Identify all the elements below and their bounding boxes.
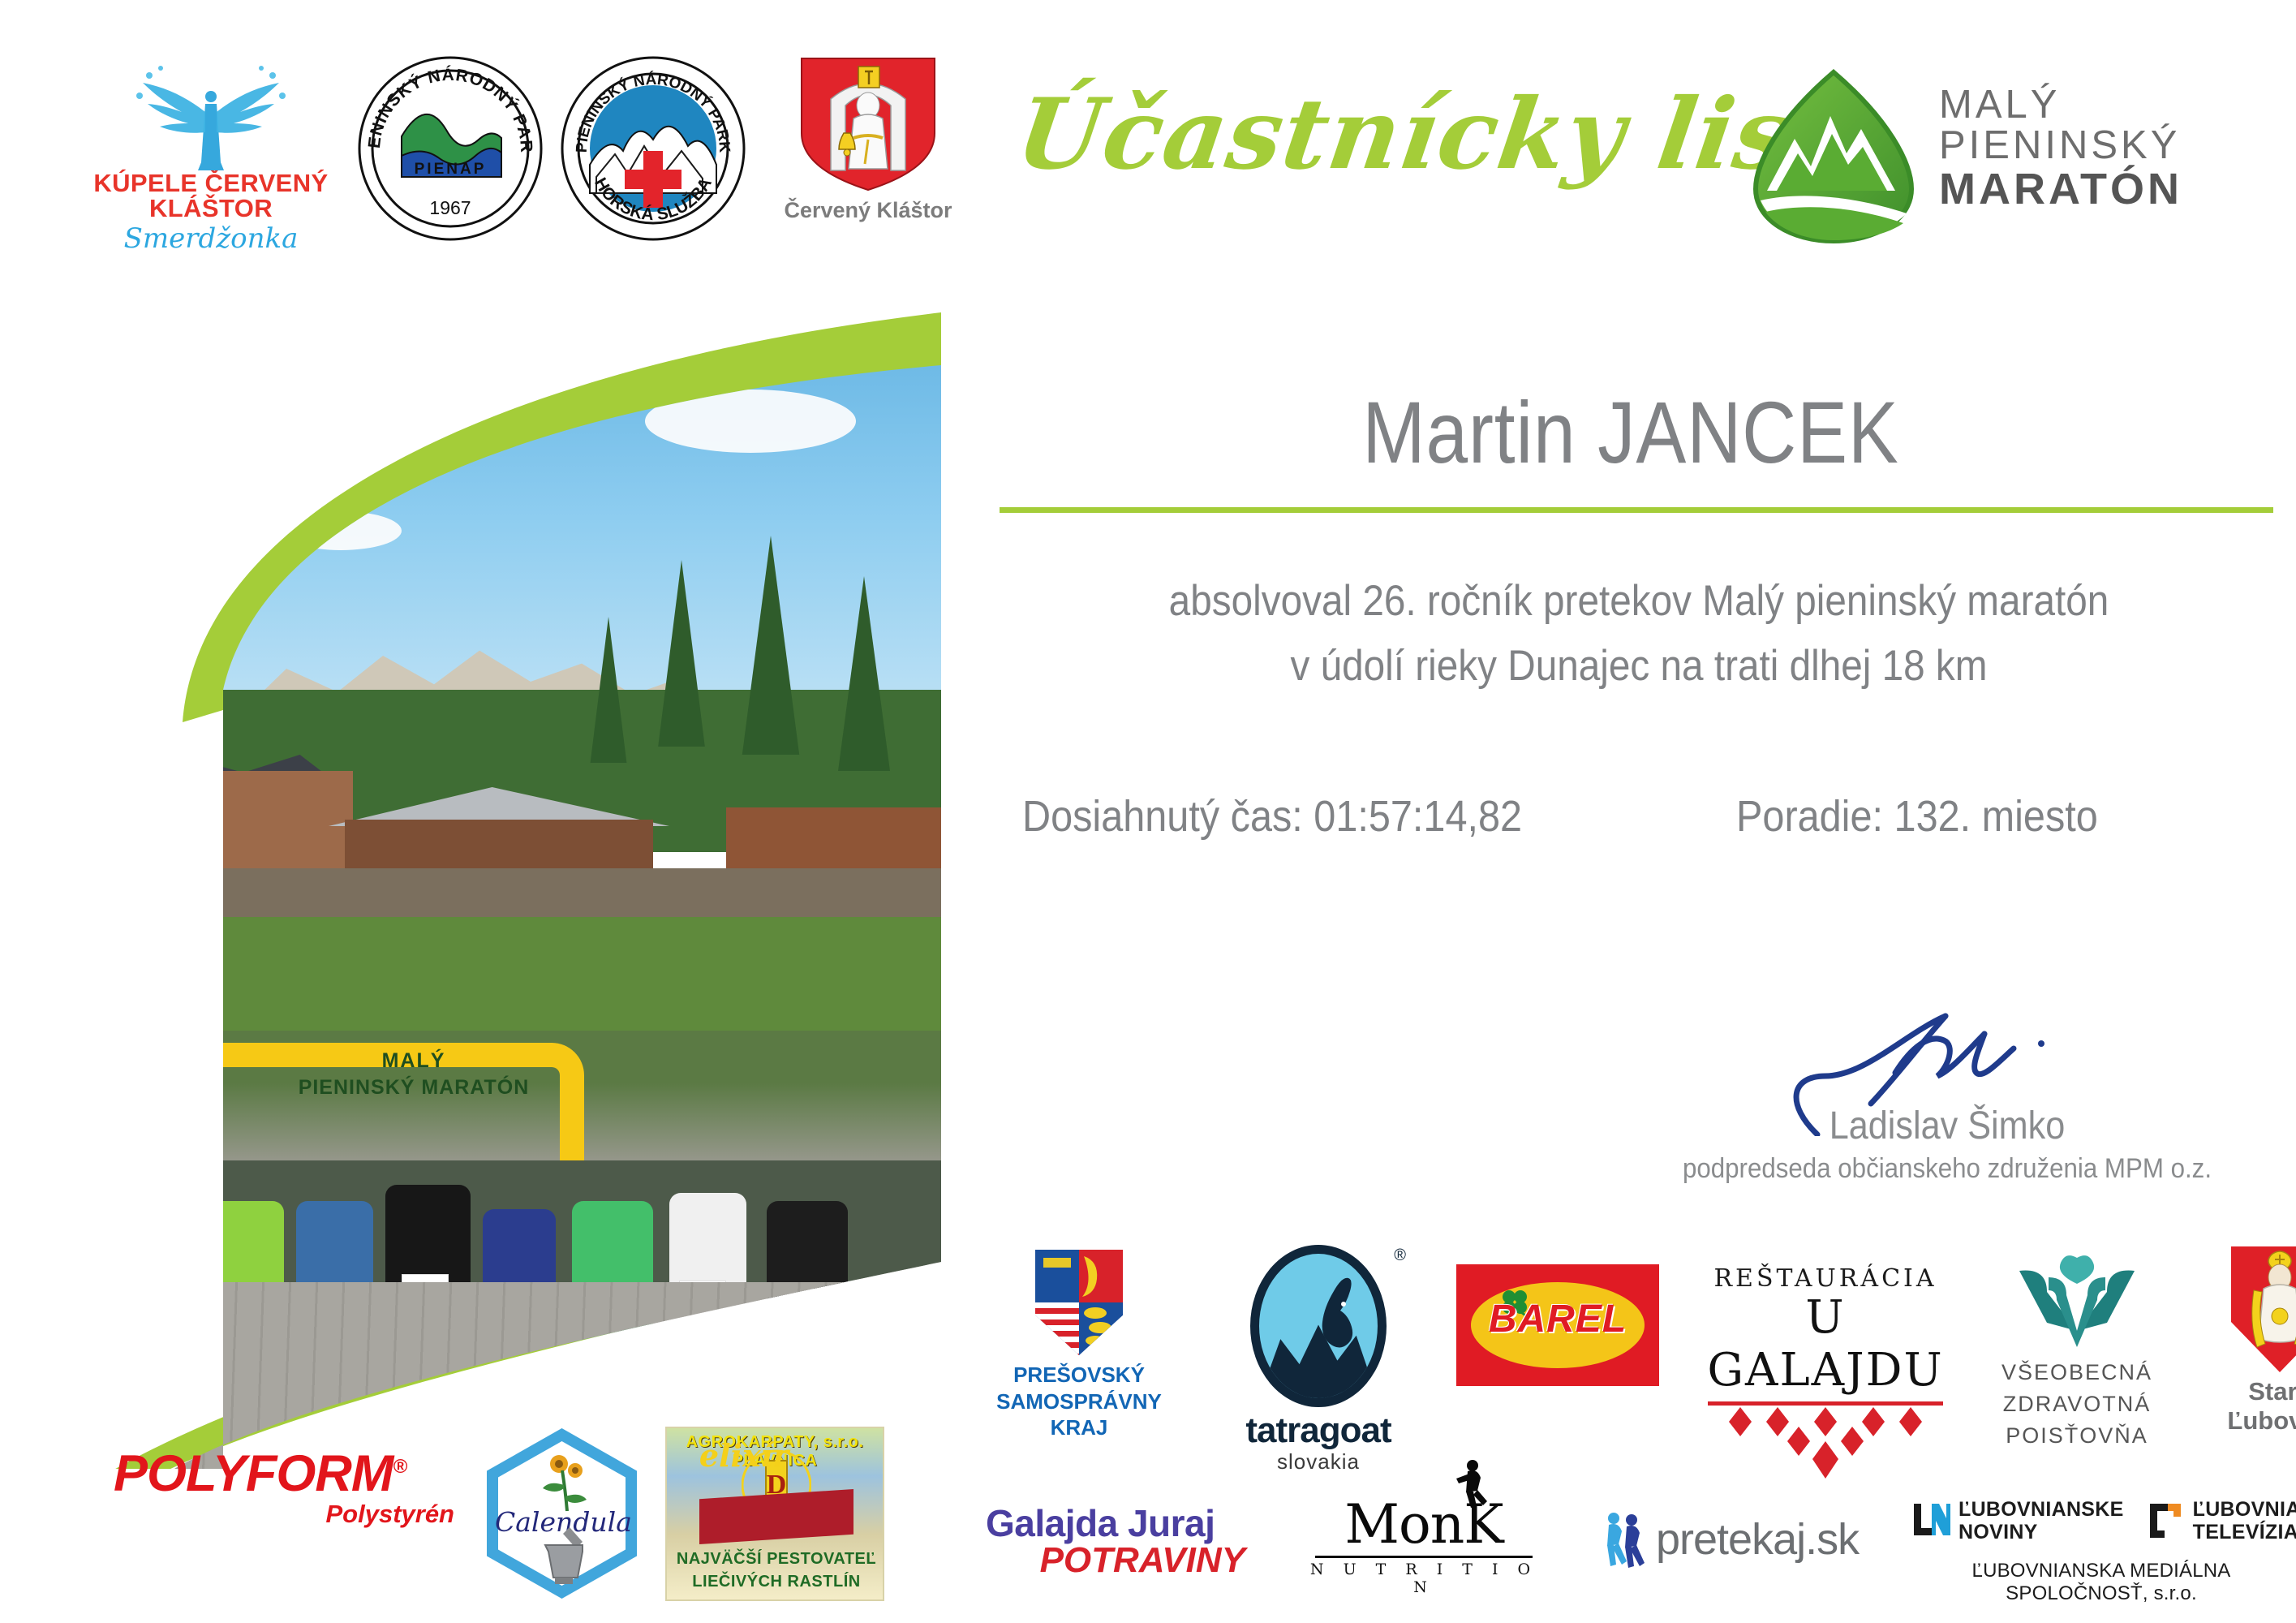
sponsor-group-row1: PREŠOVSKÝ SAMOSPRÁVNY KRAJ ® tatragoat s… xyxy=(986,1250,2284,1453)
mortar-pestle-icon xyxy=(537,1524,591,1586)
accent-divider xyxy=(1000,507,2273,513)
ln-monogram-icon xyxy=(1911,1500,1951,1541)
running-figures-icon xyxy=(1602,1511,1649,1571)
sponsor-name-barel: BAREL xyxy=(1456,1297,1659,1341)
sponsor-subtitle-polystyren: Polystyrén xyxy=(114,1500,454,1529)
sponsor-name-polyform: POLYFORM® xyxy=(114,1444,454,1503)
sponsor-name-galajda-juraj: Galajda Juraj xyxy=(986,1501,1245,1545)
sponsor-subtitle-nutrition: N U T R I T I O N xyxy=(1302,1561,1546,1596)
ln-line2: NOVINY xyxy=(1958,1521,2124,1543)
arch-text-line2: PIENINSKÝ MARATÓN xyxy=(264,1076,564,1100)
event-logo-wordmark: MALÝ PIENINSKÝ MARATÓN xyxy=(1939,85,2182,213)
result-place-value: 132. miesto xyxy=(1894,792,2098,841)
arch-text-line1: MALÝ xyxy=(320,1049,507,1073)
event-logo-line2: PIENINSKÝ xyxy=(1939,126,2182,166)
sponsor-logo-calendula: Calendula xyxy=(487,1428,637,1599)
sponsor-logo-monk-nutrition: MonK N U T R I T I O N xyxy=(1302,1493,1546,1596)
sponsor-name-presovsky-kraj: PREŠOVSKÝ SAMOSPRÁVNY KRAJ xyxy=(986,1362,1172,1441)
pienap-seal-icon: PIENINSKÝ NÁRODNÝ PARK PIENAP 1967 xyxy=(357,55,544,242)
folk-ornament-icon xyxy=(1708,1406,1943,1480)
sponsor-logo-stara-lubovna: Stará Ľubovňa xyxy=(2195,1246,2296,1436)
sponsor-tagline-2: LIEČIVÝCH RASTLÍN xyxy=(667,1573,886,1591)
svg-text:1967: 1967 xyxy=(429,197,471,218)
result-place-label: Poradie: xyxy=(1736,792,1883,841)
sponsor-logo-vszp: VŠEOBECNÁ ZDRAVOTNÁ POISŤOVŇA xyxy=(1984,1253,2170,1452)
certificate-page: KÚPELE ČERVENÝ KLÁŠTOR Smerdžonka PIENIN… xyxy=(0,0,2296,1623)
psk-line1: PREŠOVSKÝ xyxy=(986,1362,1172,1388)
sponsor-name-vszp: VŠEOBECNÁ ZDRAVOTNÁ POISŤOVŇA xyxy=(1984,1357,2170,1452)
partner-name-cerveny-klastor: Červený Kláštor xyxy=(771,198,965,223)
sponsor-name-lubovnianska-televizia: ĽUBOVNIANSKA TELEVÍZIA xyxy=(2193,1498,2296,1543)
signatory-name: Ladislav Šimko xyxy=(1670,1104,2225,1148)
climber-figure-icon xyxy=(1453,1459,1490,1509)
sponsor-name-lubovnianske-noviny: ĽUBOVNIANSKE NOVINY xyxy=(1958,1498,2124,1543)
sponsor-tagline-1: NAJVÄČŠÍ PESTOVATEĽ xyxy=(667,1550,886,1569)
partner-logo-strip: KÚPELE ČERVENÝ KLÁŠTOR Smerdžonka PIENIN… xyxy=(89,49,965,252)
sponsor-logo-u-galajdu: REŠTAURÁCIA U GALAJDU xyxy=(1700,1264,1951,1480)
sponsor-name-monk: MonK xyxy=(1302,1493,1546,1556)
event-logo-line1: MALÝ xyxy=(1939,85,2182,126)
sponsor-group-left: POLYFORM® Polystyrén Calendula AGROKARPA… xyxy=(114,1428,941,1607)
sponsor-subtitle-slovakia: slovakia xyxy=(1221,1449,1416,1474)
vszp-line3: POISŤOVŇA xyxy=(1984,1420,2170,1452)
sponsor-logo-presovsky-kraj: PREŠOVSKÝ SAMOSPRÁVNY KRAJ xyxy=(986,1250,1172,1441)
certificate-body-line1: absolvoval 26. ročník pretekov Malý pien… xyxy=(1069,576,2208,626)
sponsor-logo-tatragoat: ® tatragoat slovakia xyxy=(1221,1245,1416,1474)
partner-logo-pienap: PIENINSKÝ NÁRODNÝ PARK PIENAP 1967 xyxy=(357,55,544,246)
marigold-flower-icon xyxy=(531,1449,596,1513)
recipient-name: Martin JANCEK xyxy=(1100,381,2161,483)
partner-logo-kupele-cerveny-klastor: KÚPELE ČERVENÝ KLÁŠTOR Smerdžonka xyxy=(89,49,333,255)
partner-logo-horska-sluzba: PIENINSKÝ NÁRODNÝ PARK HORSKÁ SLUŽBA xyxy=(560,55,746,246)
signatory-role: podpredseda občianskeho združenia MPM o.… xyxy=(1663,1153,2230,1185)
registered-icon: ® xyxy=(1394,1246,1406,1265)
psk-line3: KRAJ xyxy=(986,1414,1172,1441)
sponsor-name-u-galajdu: U GALAJDU xyxy=(1700,1291,1951,1397)
sponsor-logo-lubovnianske-noviny: ĽUBOVNIANSKE NOVINY xyxy=(1911,1498,2124,1543)
sponsor-logo-polyform: POLYFORM® Polystyrén xyxy=(114,1444,454,1529)
sponsor-label-restauracia: REŠTAURÁCIA xyxy=(1700,1264,1951,1293)
runner-bib: 209 xyxy=(127,1323,174,1352)
partner-name-kupele: KÚPELE ČERVENÝ KLÁŠTOR xyxy=(89,170,333,221)
spa-angel-icon xyxy=(89,49,333,170)
leaf-mountain-icon xyxy=(1752,69,1915,243)
vszp-line2: ZDRAVOTNÁ xyxy=(1984,1388,2170,1420)
event-logo: MALÝ PIENINSKÝ MARATÓN xyxy=(1752,69,2255,248)
stara-lubovna-coat-of-arms-icon xyxy=(2231,1246,2296,1372)
registered-icon: ® xyxy=(393,1456,406,1478)
signature-block: Ladislav Šimko podpredseda občianskeho z… xyxy=(1639,998,2255,1185)
result-time-label: Dosiahnutý čas: xyxy=(1022,792,1303,841)
sponsor-logo-barel: BAREL xyxy=(1456,1264,1659,1386)
lt-line2: TELEVÍZIA xyxy=(2193,1521,2296,1543)
sponsor-logo-lubovnianska-televizia: ĽUBOVNIANSKA TELEVÍZIA xyxy=(2145,1498,2296,1543)
sponsor-subtitle-potraviny: POTRAVINY xyxy=(986,1540,1245,1581)
vszp-chevron-icon xyxy=(2016,1253,2138,1350)
vszp-line1: VŠEOBECNÁ xyxy=(1984,1357,2170,1388)
sponsor-footer-media-company: ĽUBOVNIANSKA MEDIÁLNA SPOLOČNOSŤ, s.r.o. xyxy=(1911,1560,2292,1605)
sponsor-logo-galajda-juraj: Galajda Juraj POTRAVINY xyxy=(986,1501,1245,1581)
svg-text:PIENAP: PIENAP xyxy=(415,161,487,178)
mountain-rescue-seal-icon: PIENINSKÝ NÁRODNÝ PARK HORSKÁ SLUŽBA xyxy=(560,55,746,242)
cerveny-klastor-coat-of-arms-icon xyxy=(795,55,941,193)
partner-logo-cerveny-klastor: Červený Kláštor xyxy=(771,55,965,223)
ln-line1: ĽUBOVNIANSKE xyxy=(1958,1498,2124,1521)
psk-line2: SAMOSPRÁVNY xyxy=(986,1388,1172,1415)
goat-mountain-icon xyxy=(1250,1245,1387,1407)
lt-screen-icon xyxy=(2145,1500,2186,1541)
partner-subtitle-smerdzonka: Smerdžonka xyxy=(89,222,333,255)
sponsor-name-stara-lubovna: Stará Ľubovňa xyxy=(2195,1377,2296,1436)
event-logo-line3: MARATÓN xyxy=(1939,166,2182,213)
result-place: Poradie: 132. miesto xyxy=(1736,791,2098,842)
sponsor-name-pretekaj: pretekaj.sk xyxy=(1656,1514,1859,1565)
sponsor-brand-elixir: elixír xyxy=(667,1428,821,1483)
result-time: Dosiahnutý čas: 01:57:14,82 xyxy=(1022,791,1522,842)
presov-coat-of-arms-icon xyxy=(1035,1250,1123,1355)
page-title: Účastnícky list xyxy=(1010,77,1844,192)
sponsor-logo-media-group: ĽUBOVNIANSKE NOVINY ĽUBOVNIANSKA TELEVÍZ… xyxy=(1911,1498,2292,1605)
sponsor-group-row2: Galajda Juraj POTRAVINY MonK N U T R I T… xyxy=(986,1493,2284,1623)
event-photo-collage: MALÝ PIENINSKÝ MARATÓN 209 74 249 147 31… xyxy=(77,268,941,1469)
lt-line1: ĽUBOVNIANSKA xyxy=(2193,1498,2296,1521)
sponsor-name-tatragoat: tatragoat xyxy=(1221,1410,1416,1451)
certificate-body-line2: v údolí rieky Dunajec na trati dlhej 18 … xyxy=(1069,641,2208,691)
result-time-value: 01:57:14,82 xyxy=(1314,792,1522,841)
sponsor-logo-agrokarpaty: AGROKARPATY, s.r.o. PLAVNICA D elixír NA… xyxy=(665,1427,884,1601)
